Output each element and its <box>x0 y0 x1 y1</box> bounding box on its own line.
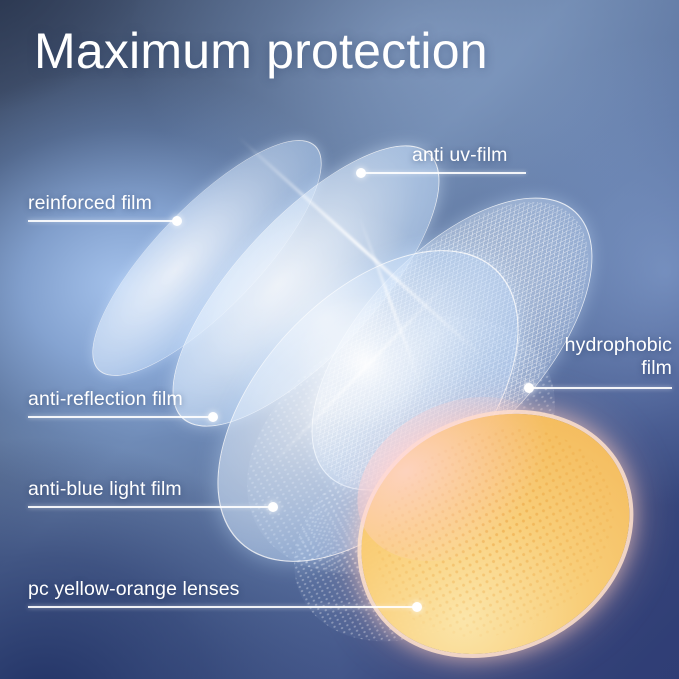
leader-line <box>28 416 214 418</box>
callout-leader <box>28 601 428 613</box>
callout-label: reinforced film <box>28 192 188 215</box>
callout-anti-reflection-film: anti-reflection film <box>28 388 248 423</box>
leader-line <box>28 506 274 508</box>
callout-anti-uv-film: anti uv-film <box>356 144 536 179</box>
callout-label: anti-reflection film <box>28 388 248 411</box>
product-infographic: Maximum protection reinforced film anti … <box>0 0 679 679</box>
callout-label: anti uv-film <box>412 144 536 167</box>
leader-line <box>532 387 672 389</box>
leader-line <box>28 606 418 608</box>
callout-label: pc yellow-orange lenses <box>28 578 428 601</box>
callout-pc-yellow-orange-lenses: pc yellow-orange lenses <box>28 578 428 613</box>
callout-leader <box>28 411 248 423</box>
leader-dot <box>172 216 182 226</box>
leader-line <box>28 220 178 222</box>
callout-anti-blue-light-film: anti-blue light film <box>28 478 288 513</box>
callout-leader <box>356 167 536 179</box>
leader-dot <box>208 412 218 422</box>
leader-line <box>364 172 526 174</box>
callout-label-line-1: hydrophobic <box>500 334 672 357</box>
callout-reinforced-film: reinforced film <box>28 192 188 227</box>
callout-label-line-2: film <box>500 357 672 380</box>
leader-dot <box>268 502 278 512</box>
callout-label: anti-blue light film <box>28 478 288 501</box>
page-title: Maximum protection <box>34 22 488 80</box>
callout-leader <box>28 501 288 513</box>
callout-leader <box>500 382 672 394</box>
callout-leader <box>28 215 188 227</box>
callout-hydrophobic-film: hydrophobic film <box>500 334 672 394</box>
leader-dot <box>412 602 422 612</box>
